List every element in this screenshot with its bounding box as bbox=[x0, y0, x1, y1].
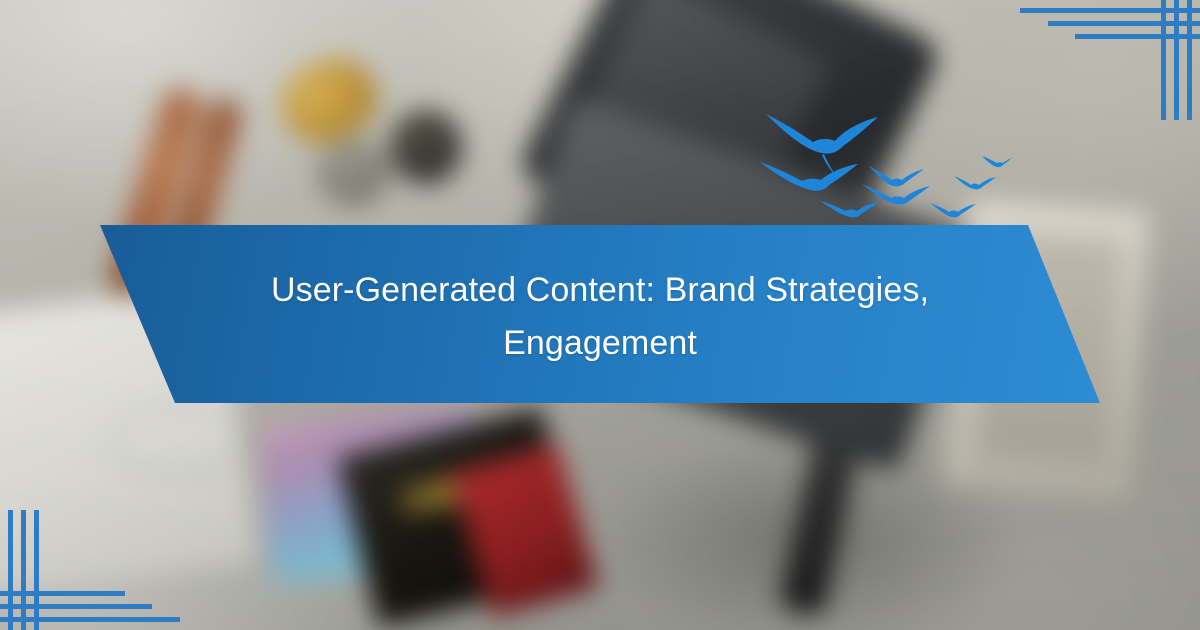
birds-group bbox=[760, 114, 1013, 217]
corner-line-vertical-2 bbox=[21, 510, 26, 630]
corner-line-horizontal-1 bbox=[0, 617, 180, 622]
bird-flock-decoration bbox=[758, 108, 1013, 228]
corner-line-vertical-1 bbox=[8, 510, 13, 630]
corner-ornament-bottom-left bbox=[0, 510, 180, 630]
bird-icon bbox=[930, 203, 976, 217]
corner-line-vertical-2 bbox=[1174, 0, 1179, 120]
corner-line-vertical-3 bbox=[1161, 0, 1166, 120]
corner-line-horizontal-1 bbox=[1020, 8, 1200, 13]
bird-icon bbox=[820, 201, 879, 217]
bird-icon bbox=[766, 114, 878, 176]
page-title: User-Generated Content: Brand Strategies… bbox=[220, 258, 980, 369]
bird-icon bbox=[760, 162, 858, 191]
bird-icon bbox=[954, 176, 996, 189]
corner-line-vertical-1 bbox=[1187, 0, 1192, 120]
title-banner: User-Generated Content: Brand Strategies… bbox=[0, 218, 1200, 410]
corner-line-vertical-3 bbox=[34, 510, 39, 630]
corner-ornament-top-right bbox=[1020, 0, 1200, 120]
corner-line-horizontal-3 bbox=[0, 591, 125, 596]
bird-icon bbox=[869, 166, 924, 186]
bird-icon bbox=[982, 156, 1013, 167]
corner-line-horizontal-3 bbox=[1075, 34, 1200, 39]
bird-icon bbox=[862, 184, 930, 204]
